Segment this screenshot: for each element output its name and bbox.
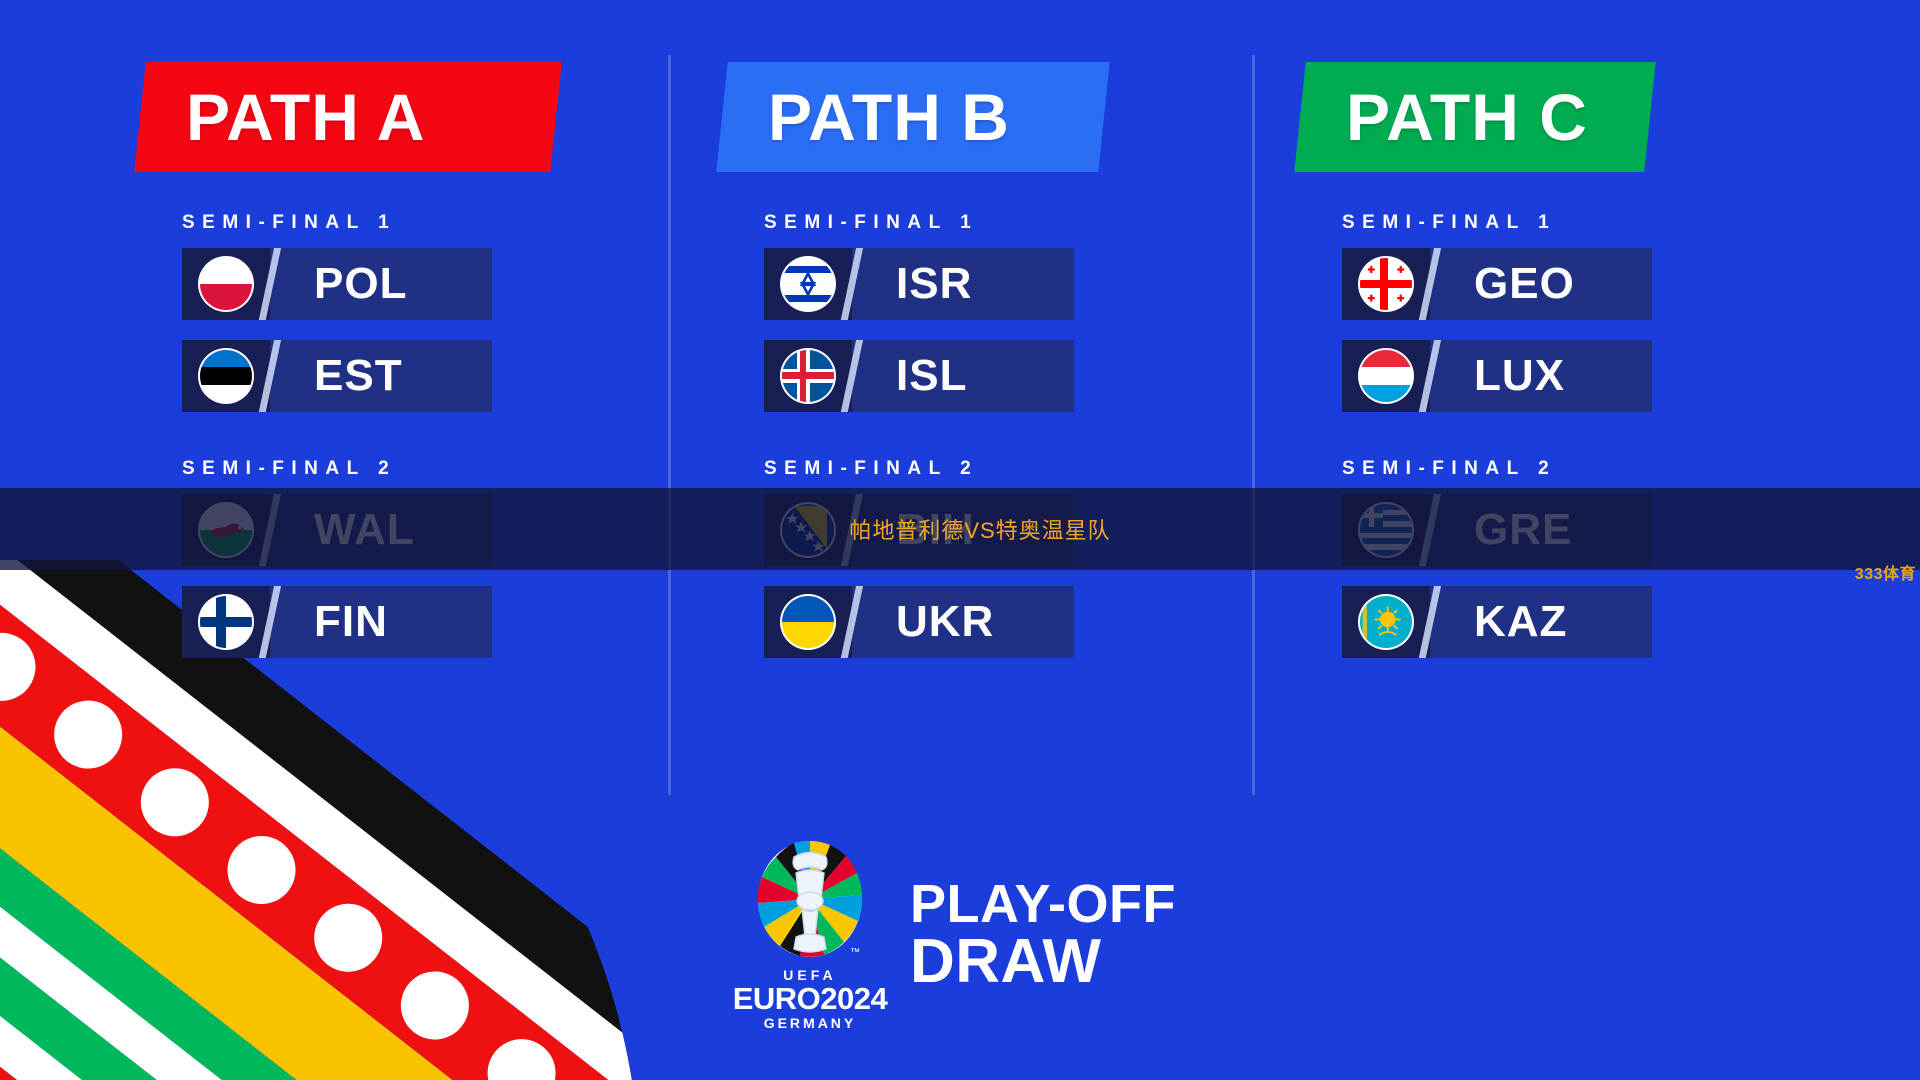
path-c-semifinal-1-label: SEMI-FINAL 1 — [1342, 212, 1860, 234]
team-row[interactable]: KAZ — [1342, 586, 1652, 658]
path-a-semifinal-1-label: SEMI-FINAL 1 — [182, 212, 700, 234]
team-code: UKR — [896, 600, 994, 644]
playoff-title-line2: DRAW — [910, 931, 1176, 993]
flag-estonia-icon — [198, 348, 254, 404]
site-watermark: 333体育 — [1855, 560, 1916, 584]
flag-luxembourg-icon — [1358, 348, 1414, 404]
team-code: KAZ — [1474, 600, 1567, 644]
flag-container — [182, 586, 270, 658]
team-code: ISL — [896, 354, 967, 398]
path-b-semifinal-1-label: SEMI-FINAL 1 — [764, 212, 1282, 234]
team-row[interactable]: UKR — [764, 586, 1074, 658]
flag-container — [764, 248, 852, 320]
path-b-label: PATH B — [722, 84, 1010, 150]
path-c-semifinal-2-label: SEMI-FINAL 2 — [1342, 458, 1860, 480]
team-row[interactable]: LUX — [1342, 340, 1652, 412]
team-row[interactable]: GEO — [1342, 248, 1652, 320]
flag-container — [182, 248, 270, 320]
flag-container — [1342, 340, 1430, 412]
team-row[interactable]: POL — [182, 248, 492, 320]
path-b-banner: PATH B — [716, 62, 1110, 172]
svg-text:™: ™ — [850, 947, 860, 958]
team-code: LUX — [1474, 354, 1565, 398]
path-a-banner: PATH A — [134, 62, 562, 172]
flag-finland-icon — [198, 594, 254, 650]
footer-branding: ™ UEFA EURO2024 GERMANY PLAY-OFF DRAW — [0, 820, 1920, 1050]
flag-container — [1342, 248, 1430, 320]
overlay-match-text: 帕地普利德VS特奥温星队 — [849, 513, 1110, 545]
team-code: FIN — [314, 600, 388, 644]
flag-container — [764, 340, 852, 412]
euro-2024-logo: ™ UEFA EURO2024 GERMANY — [744, 839, 876, 1032]
flag-poland-icon — [198, 256, 254, 312]
stream-overlay-bar: 帕地普利德VS特奥温星队 — [0, 488, 1920, 570]
team-row[interactable]: EST — [182, 340, 492, 412]
path-a-label: PATH A — [140, 84, 425, 150]
team-row[interactable]: FIN — [182, 586, 492, 658]
team-code: GEO — [1474, 262, 1575, 306]
logo-germany-text: GERMANY — [733, 1015, 888, 1031]
team-code: ISR — [896, 262, 972, 306]
team-row[interactable]: ISR — [764, 248, 1074, 320]
path-c-label: PATH C — [1300, 84, 1588, 150]
flag-container — [182, 340, 270, 412]
flag-container — [764, 586, 852, 658]
path-column-a: PATH A SEMI-FINAL 1 POL EST SEMI-FINAL 2 — [140, 0, 700, 678]
path-b-semifinal-2-label: SEMI-FINAL 2 — [764, 458, 1282, 480]
path-c-banner: PATH C — [1294, 62, 1656, 172]
euro-trophy-icon: ™ — [752, 839, 868, 965]
path-column-c: PATH C SEMI-FINAL 1 — [1300, 0, 1860, 678]
flag-georgia-icon — [1358, 256, 1414, 312]
logo-euro-text: EURO2024 — [733, 983, 888, 1016]
flag-israel-icon — [780, 256, 836, 312]
flag-iceland-icon — [780, 348, 836, 404]
flag-ukraine-icon — [780, 594, 836, 650]
path-column-b: PATH B SEMI-FINAL 1 ISR — [722, 0, 1282, 678]
flag-kazakhstan-icon — [1358, 594, 1414, 650]
team-code: POL — [314, 262, 407, 306]
team-row[interactable]: ISL — [764, 340, 1074, 412]
playoff-title-line1: PLAY-OFF — [910, 874, 1176, 934]
flag-container — [1342, 586, 1430, 658]
team-code: EST — [314, 354, 403, 398]
path-a-semifinal-2-label: SEMI-FINAL 2 — [182, 458, 700, 480]
playoff-draw-title: PLAY-OFF DRAW — [910, 877, 1176, 993]
